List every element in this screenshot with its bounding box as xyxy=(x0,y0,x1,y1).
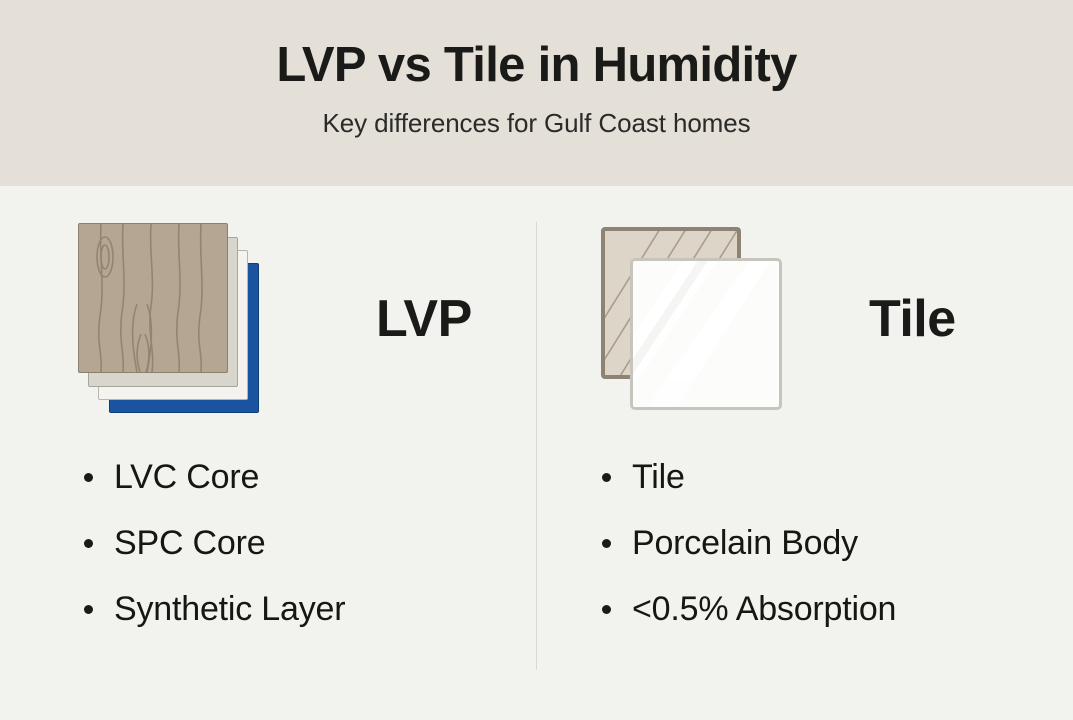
bullet-dot-icon xyxy=(84,605,93,614)
list-item: LVC Core xyxy=(84,444,345,510)
list-item-label: Synthetic Layer xyxy=(114,590,345,629)
list-item: Synthetic Layer xyxy=(84,576,345,642)
bullet-dot-icon xyxy=(602,605,611,614)
column-lvp: LVP LVC Core SPC Core Synthetic Layer xyxy=(0,186,536,720)
lvp-hero-row: LVP xyxy=(0,204,614,434)
tile-heading: Tile xyxy=(869,293,956,345)
list-item: Porcelain Body xyxy=(602,510,896,576)
list-item-label: <0.5% Absorption xyxy=(632,590,896,629)
gloss-shine-icon xyxy=(633,261,779,407)
tile-front-glazed-face xyxy=(630,258,782,410)
list-item: <0.5% Absorption xyxy=(602,576,896,642)
bullet-dot-icon xyxy=(602,539,611,548)
list-item-label: LVC Core xyxy=(114,458,259,497)
lvp-feature-list: LVC Core SPC Core Synthetic Layer xyxy=(84,444,345,642)
wood-grain-icon xyxy=(79,224,227,372)
tile-feature-list: Tile Porcelain Body <0.5% Absorption xyxy=(602,444,896,642)
lvp-heading: LVP xyxy=(376,293,472,345)
bullet-dot-icon xyxy=(84,539,93,548)
bullet-dot-icon xyxy=(602,473,611,482)
list-item: Tile xyxy=(602,444,896,510)
tile-hero-row: Tile xyxy=(537,204,1073,434)
list-item-label: Tile xyxy=(632,458,685,497)
column-tile: Tile Tile Porcelain Body <0.5% Absorptio… xyxy=(537,186,1073,720)
list-item: SPC Core xyxy=(84,510,345,576)
list-item-label: Porcelain Body xyxy=(632,524,858,563)
header-band: LVP vs Tile in Humidity Key differences … xyxy=(0,0,1073,186)
page-title: LVP vs Tile in Humidity xyxy=(276,0,796,91)
tile-pair-icon xyxy=(595,223,787,415)
comparison-body: LVP LVC Core SPC Core Synthetic Layer xyxy=(0,186,1073,720)
lvp-layered-plank-stack-icon xyxy=(78,223,270,415)
page-subtitle: Key differences for Gulf Coast homes xyxy=(322,91,750,139)
list-item-label: SPC Core xyxy=(114,524,265,563)
bullet-dot-icon xyxy=(84,473,93,482)
lvp-wood-wear-layer xyxy=(78,223,228,373)
